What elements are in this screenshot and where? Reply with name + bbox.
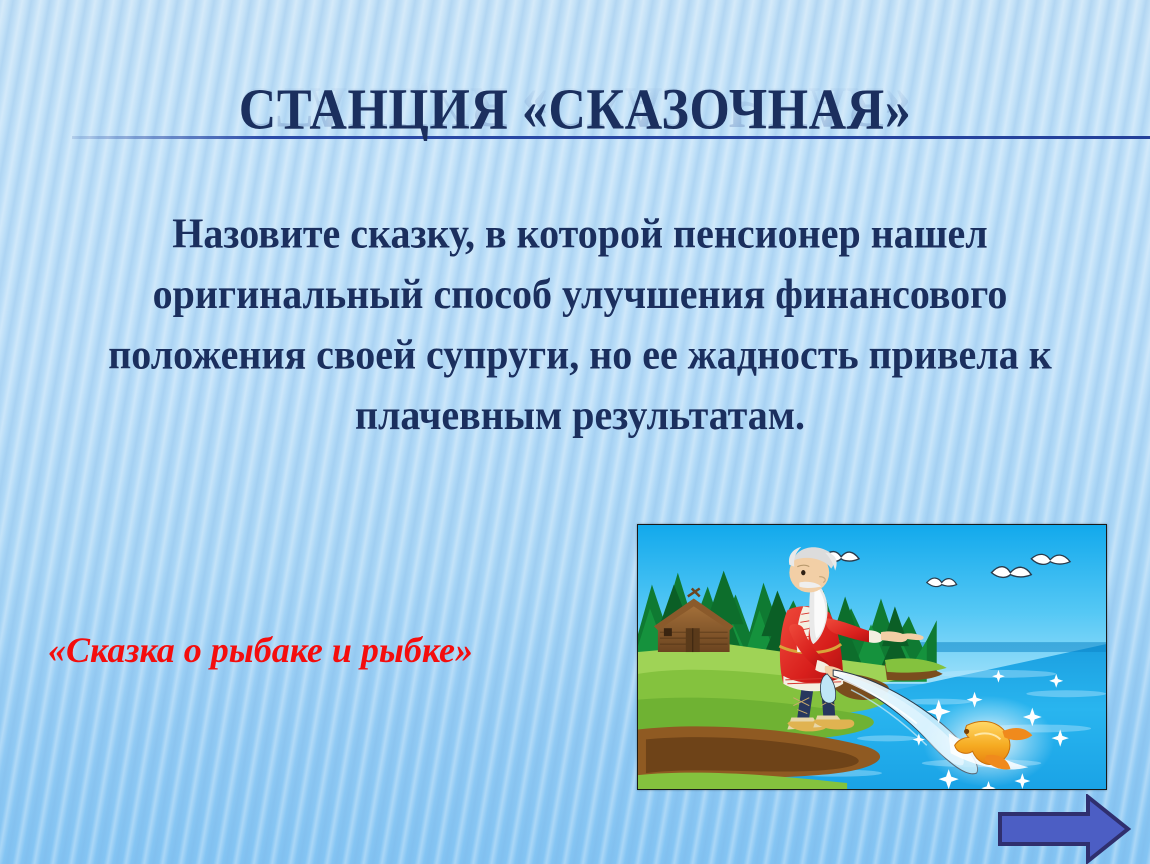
slide-title-area: СТАНЦИЯ «СКАЗОЧНАЯ» СТАНЦИЯ «СКАЗОЧНАЯ» <box>0 78 1150 178</box>
page-title: СТАНЦИЯ «СКАЗОЧНАЯ» <box>0 78 1150 143</box>
question-body-text: Назовите сказку, в которой пенсионер наш… <box>60 203 1100 445</box>
old-fisherman-and-goldfish-illustration <box>638 525 1106 789</box>
answer-text: «Сказка о рыбаке и рыбке» <box>48 628 608 672</box>
illustration-frame <box>637 524 1107 790</box>
arrow-right-icon[interactable] <box>996 794 1132 864</box>
next-slide-arrow-button[interactable] <box>996 794 1132 864</box>
